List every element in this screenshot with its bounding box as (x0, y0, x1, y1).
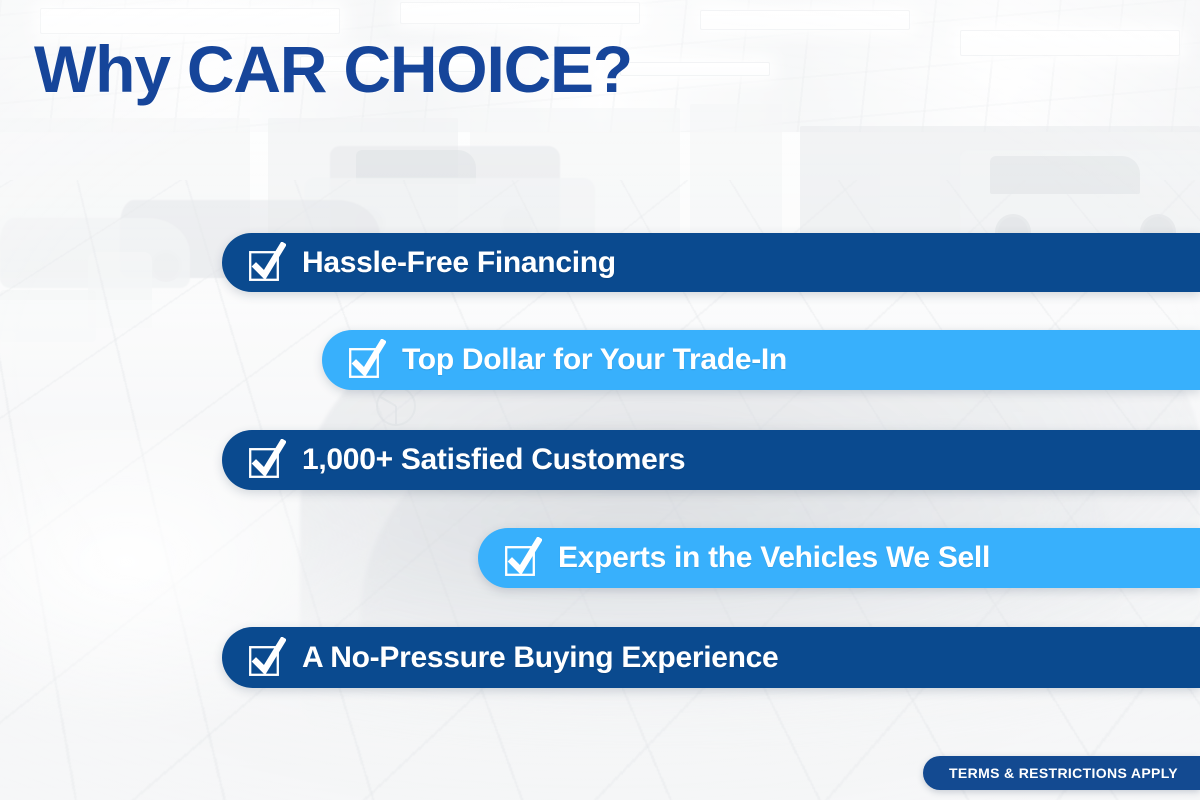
benefit-bar-label: 1,000+ Satisfied Customers (302, 443, 685, 477)
checkbox-checked-icon (248, 637, 286, 679)
benefit-bar-list: Hassle-Free Financing Top Dollar for You… (0, 0, 1200, 800)
checkbox-checked-icon (248, 439, 286, 481)
benefit-bar-top-dollar-trade-in[interactable]: Top Dollar for Your Trade-In (322, 330, 1200, 390)
benefit-bar-label: Experts in the Vehicles We Sell (558, 541, 990, 575)
benefit-bar-label: Top Dollar for Your Trade-In (402, 343, 787, 377)
checkbox-checked-icon (348, 339, 386, 381)
terms-badge-label: TERMS & RESTRICTIONS APPLY (949, 765, 1178, 781)
benefit-bar-no-pressure-buying[interactable]: A No-Pressure Buying Experience (222, 627, 1200, 688)
checkbox-checked-icon (248, 242, 286, 284)
benefit-bar-experts-in-vehicles[interactable]: Experts in the Vehicles We Sell (478, 528, 1200, 588)
benefit-bar-hassle-free-financing[interactable]: Hassle-Free Financing (222, 233, 1200, 292)
checkbox-checked-icon (504, 537, 542, 579)
benefit-bar-label: A No-Pressure Buying Experience (302, 641, 778, 675)
terms-and-restrictions-badge[interactable]: TERMS & RESTRICTIONS APPLY (923, 756, 1200, 790)
promo-poster: Why CAR CHOICE? Hassle-Free Financing To… (0, 0, 1200, 800)
benefit-bar-satisfied-customers[interactable]: 1,000+ Satisfied Customers (222, 430, 1200, 490)
benefit-bar-label: Hassle-Free Financing (302, 246, 616, 280)
